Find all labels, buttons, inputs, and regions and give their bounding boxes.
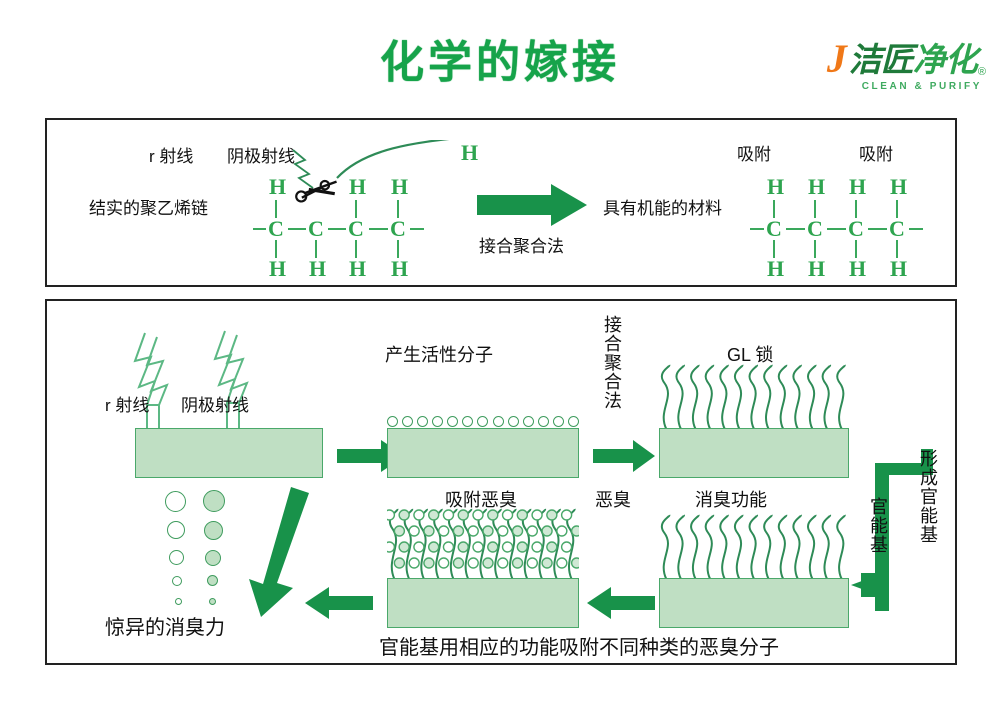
arrow-step-5-to-6 [305, 587, 373, 619]
polymer-chain [764, 515, 772, 579]
panel-deodorization-process: r 射线 阴极射线 产生活性分子 吸附恶臭 接合聚合法 恶臭 GL 锁 消臭功能 [45, 299, 957, 665]
molecule-right: H H H H C C C C H H H H [767, 176, 947, 266]
odor-molecule [394, 558, 404, 568]
atom-h-bottom-1: H [767, 258, 784, 280]
polymer-chain [793, 365, 801, 429]
odor-molecule [424, 526, 434, 536]
odor-molecule [532, 510, 542, 520]
atom-h-top-2: H [808, 176, 825, 198]
atom-h-top-3: H [849, 176, 866, 198]
label-functional-material: 具有机能的材料 [603, 194, 722, 219]
odor-molecule [557, 526, 567, 536]
polymer-chain [823, 515, 831, 579]
polymer-chain [676, 365, 684, 429]
polymer-chain [735, 515, 743, 579]
odor-molecule [542, 526, 552, 536]
label-cathode-ray-bottom: 阴极射线 [181, 391, 249, 416]
odor-molecule [414, 510, 424, 520]
odor-dissipation-group [165, 491, 235, 611]
logo-initial: J [827, 40, 847, 78]
polymer-chain [764, 365, 772, 429]
odor-molecule [542, 558, 552, 568]
odor-molecule [503, 510, 513, 520]
grafted-chains-top [659, 363, 849, 429]
odor-molecule [547, 542, 557, 552]
polymer-chain [676, 515, 684, 579]
polymer-chain [720, 515, 728, 579]
odor-molecule [468, 558, 478, 568]
atom-c-1: C [766, 218, 782, 240]
radical-dot [477, 416, 488, 427]
radical-dot [523, 416, 534, 427]
radical-dot [387, 416, 398, 427]
odor-molecule [498, 558, 508, 568]
atom-c-2: C [807, 218, 823, 240]
block-functionalized-material [659, 578, 849, 628]
label-adsorb-top-1: 吸附 [737, 140, 771, 165]
odor-molecule [572, 526, 579, 536]
odor-molecule [473, 542, 483, 552]
caption-functional-group-adsorption: 官能基用相应的功能吸附不同种类的恶臭分子 [379, 631, 779, 660]
label-r-ray-top: r 射线 [149, 142, 193, 167]
radical-dot [553, 416, 564, 427]
label-deodorizing-function: 消臭功能 [695, 486, 767, 512]
arrow-step-4-to-5 [587, 587, 655, 619]
atom-c-4: C [390, 218, 406, 240]
radical-dot [493, 416, 504, 427]
odor-molecule [387, 510, 394, 520]
atom-h-top-1: H [269, 176, 286, 198]
odor-molecule [547, 510, 557, 520]
polymer-chain [823, 365, 831, 429]
odor-molecule [513, 558, 523, 568]
odor-molecule [562, 510, 572, 520]
radical-dot [508, 416, 519, 427]
polymer-chain [691, 515, 699, 579]
odor-molecule [453, 526, 463, 536]
atom-c-3: C [348, 218, 364, 240]
radical-dot [417, 416, 428, 427]
label-form-functional-group-vertical: 形成官能基 [915, 449, 941, 544]
odor-molecule [557, 558, 567, 568]
atom-h-top-1: H [767, 176, 784, 198]
odor-molecule [532, 542, 542, 552]
polymer-chain [750, 515, 758, 579]
atom-c-3: C [848, 218, 864, 240]
polymer-chain [808, 365, 816, 429]
polymer-chain [793, 515, 801, 579]
label-active-molecules: 产生活性分子 [385, 341, 493, 367]
label-functional-group-vertical: 官能基 [865, 497, 891, 554]
arrow-step-2-to-3 [593, 440, 655, 472]
atom-c-1: C [268, 218, 284, 240]
label-r-ray-bottom: r 射线 [105, 391, 149, 416]
label-graft-polymerization-top: 接合聚合法 [479, 232, 564, 257]
polymer-chain [706, 365, 714, 429]
radical-dot [447, 416, 458, 427]
logo-tagline: CLEAN & PURIFY [796, 81, 986, 92]
polymer-chain [750, 365, 758, 429]
odor-molecule [394, 526, 404, 536]
atom-h-bottom-4: H [890, 258, 907, 280]
odor-molecule [399, 510, 409, 520]
logo-brand-part1: 洁匠 [849, 41, 913, 78]
brand-logo: J 洁匠净化 ® CLEAN & PURIFY [796, 36, 986, 98]
block-base-material [135, 428, 323, 478]
label-adsorb-top-2: 吸附 [859, 140, 893, 165]
polymer-chain [662, 365, 670, 429]
arrow-result-down [233, 487, 313, 617]
atom-h-top-4: H [890, 176, 907, 198]
odor-molecule [527, 558, 537, 568]
odor-molecule [453, 558, 463, 568]
odor-molecule [572, 558, 579, 568]
block-gl-lock-material [659, 428, 849, 478]
label-graft-polymerization-vertical: 接合聚合法 [599, 315, 625, 410]
cathode-ray-bolt-icon [209, 329, 289, 439]
odor-molecule [483, 526, 493, 536]
odor-molecule [498, 526, 508, 536]
odor-molecule [429, 510, 439, 520]
odor-molecule [387, 542, 394, 552]
odor-molecule [503, 542, 513, 552]
polymer-chain [662, 515, 670, 579]
odor-molecule [443, 542, 453, 552]
odor-molecule [414, 542, 424, 552]
polymer-chain [706, 515, 714, 579]
panel-grafting-chemistry: r 射线 阴极射线 结实的聚乙烯链 H H H C C C C [45, 118, 957, 287]
odor-molecule [473, 510, 483, 520]
odor-molecule [443, 510, 453, 520]
polymer-chain [779, 515, 787, 579]
atom-h-bottom-2: H [309, 258, 326, 280]
odor-molecule [488, 542, 498, 552]
atom-c-4: C [889, 218, 905, 240]
polymer-chain [735, 365, 743, 429]
polymer-chain [720, 365, 728, 429]
registered-mark-icon: ® [978, 66, 986, 78]
polymer-chain [808, 515, 816, 579]
r-ray-bolt-icon [129, 331, 209, 441]
atom-h-bottom-2: H [808, 258, 825, 280]
radical-dot [432, 416, 443, 427]
odor-molecule [409, 558, 419, 568]
grafted-chains-bottom [659, 513, 849, 579]
block-activated-material [387, 428, 579, 478]
poster-root: 化学的嫁接 J 洁匠净化 ® CLEAN & PURIFY r 射线 阴极射线 … [0, 0, 1000, 707]
odor-molecule [517, 542, 527, 552]
odor-molecule [458, 542, 468, 552]
odor-molecule [562, 542, 572, 552]
atom-h-bottom-3: H [349, 258, 366, 280]
odor-molecule [513, 526, 523, 536]
process-arrow-top [477, 184, 587, 226]
label-odor: 恶臭 [595, 486, 631, 512]
polymer-chain [837, 515, 845, 579]
polymer-chain [691, 365, 699, 429]
odor-molecule [439, 526, 449, 536]
molecule-left: H H H C C C C H H H H [269, 176, 459, 266]
radical-dot [402, 416, 413, 427]
odor-molecule [429, 542, 439, 552]
atom-h-bottom-4: H [391, 258, 408, 280]
odor-molecule [527, 526, 537, 536]
block-odor-captured [387, 578, 579, 628]
odor-molecule [399, 542, 409, 552]
atom-h-bottom-3: H [849, 258, 866, 280]
atom-c-2: C [308, 218, 324, 240]
radical-dot [568, 416, 579, 427]
odor-molecule [424, 558, 434, 568]
chains-with-adsorbed-odor [387, 507, 579, 579]
odor-molecule [468, 526, 478, 536]
odor-molecule [439, 558, 449, 568]
label-amazing-deodorizing-power: 惊异的消臭力 [105, 611, 225, 640]
odor-molecule [409, 526, 419, 536]
logo-brand-part2: 净化 [913, 41, 977, 78]
radical-dot [538, 416, 549, 427]
odor-molecule [517, 510, 527, 520]
odor-molecule [488, 510, 498, 520]
radical-dot [462, 416, 473, 427]
atom-h-bottom-1: H [269, 258, 286, 280]
label-cathode-ray-top: 阴极射线 [227, 142, 295, 167]
polymer-chain [779, 365, 787, 429]
surface-radicals-row [387, 416, 579, 427]
label-polyethylene-chain: 结实的聚乙烯链 [89, 194, 208, 219]
polymer-chain [837, 365, 845, 429]
odor-molecule [458, 510, 468, 520]
odor-molecule [483, 558, 493, 568]
